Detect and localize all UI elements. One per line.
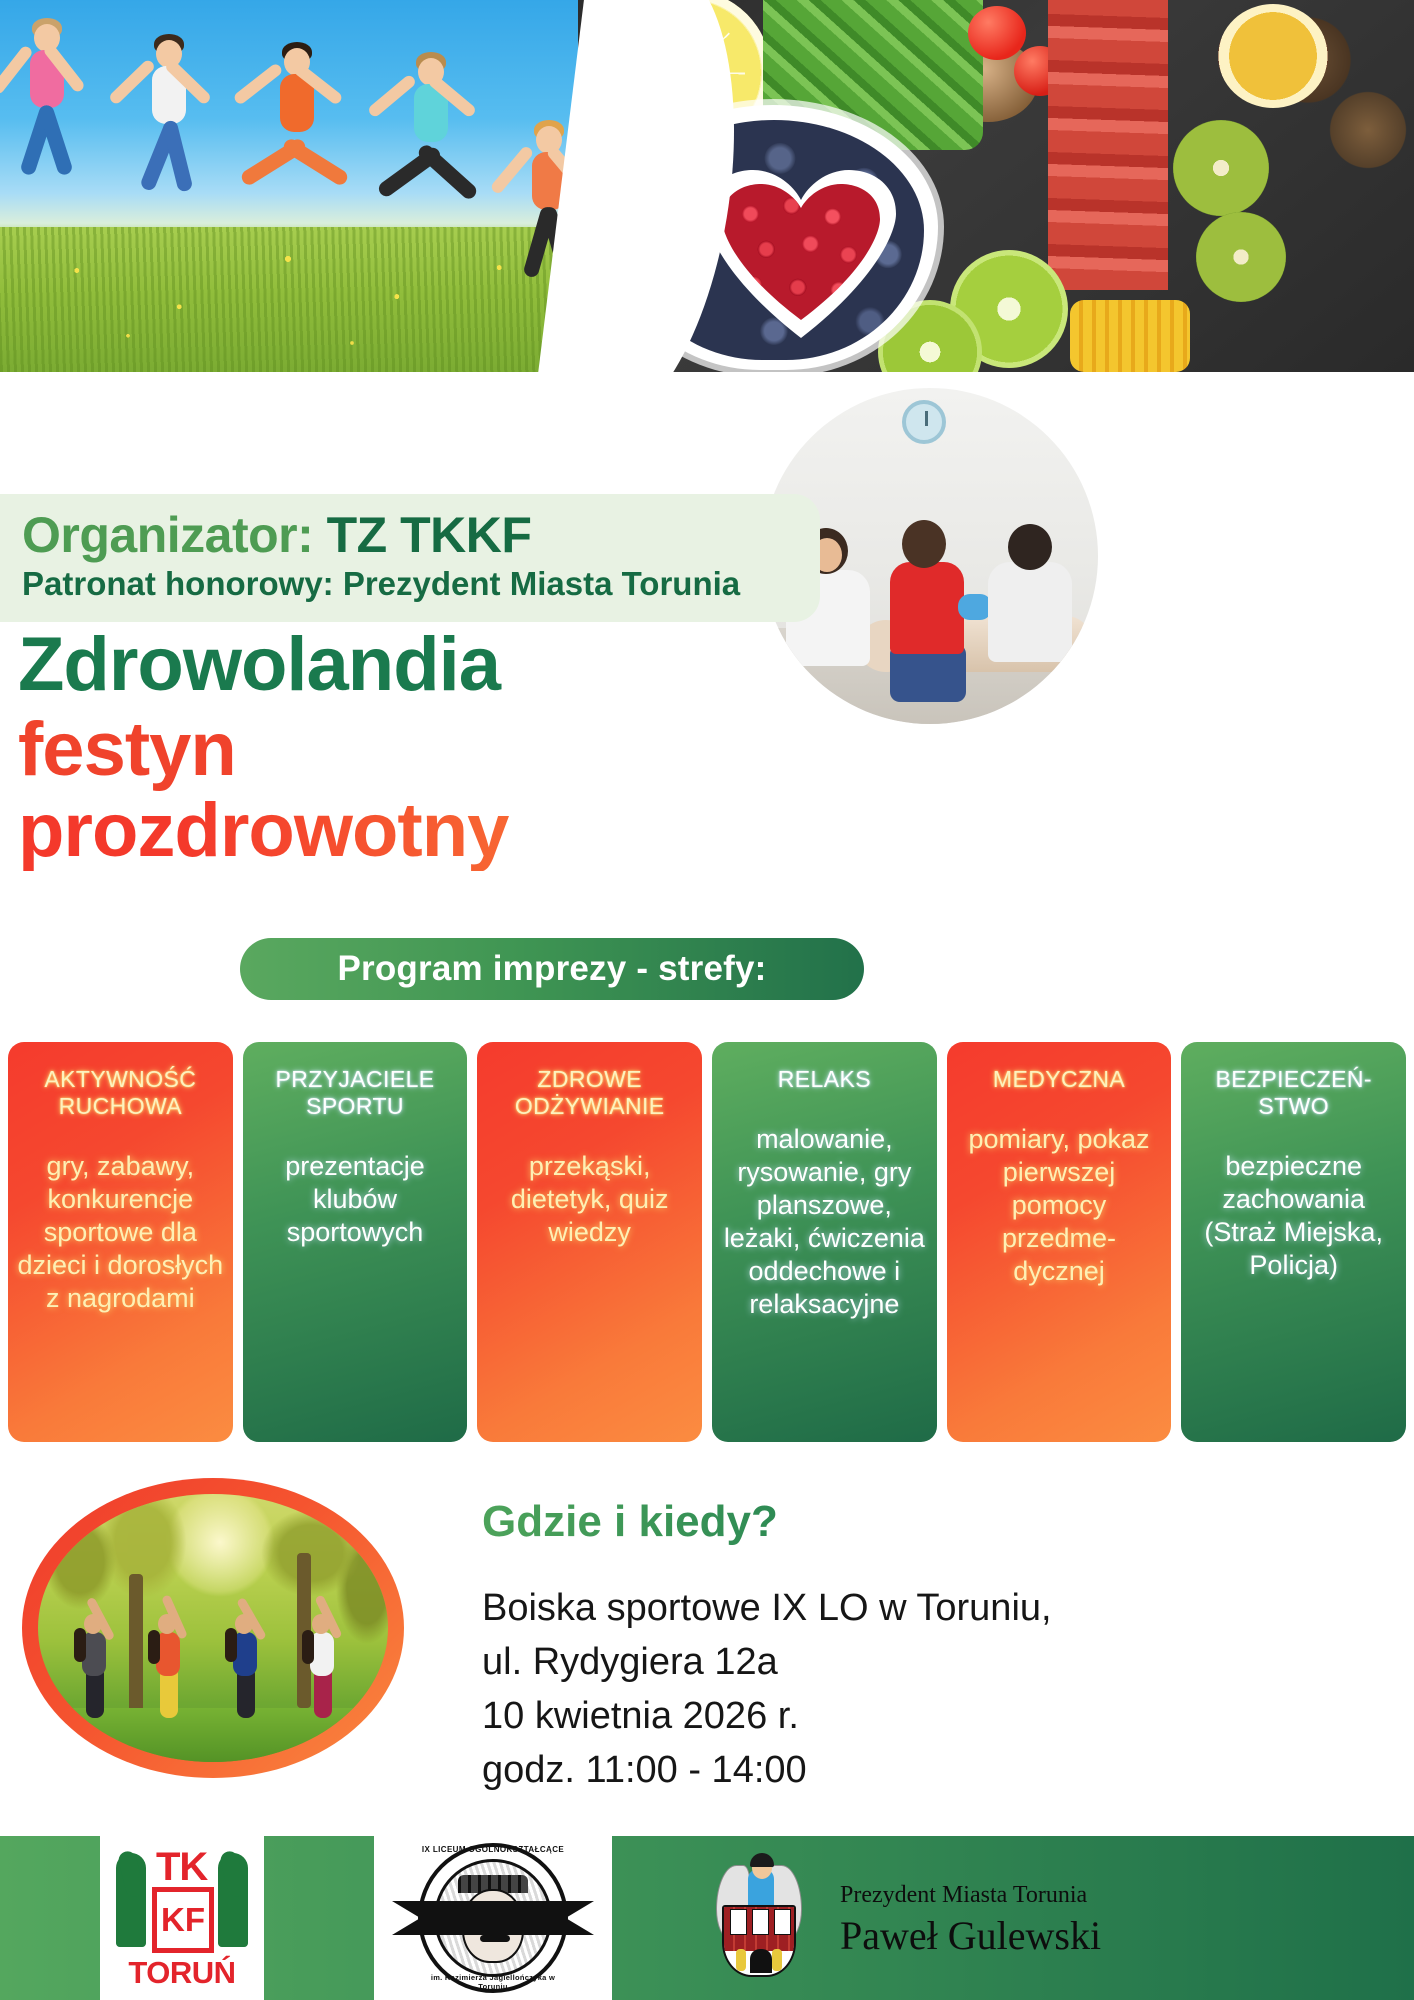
president-text: Prezydent Miasta Torunia Paweł Gulewski xyxy=(840,1881,1101,1960)
zone-body: pomiary, pokaz pierwszej pomocy przedme-… xyxy=(955,1123,1164,1288)
zone-card-medyczna[interactable]: MEDYCZNA pomiary, pokaz pierwszej pomocy… xyxy=(947,1042,1172,1442)
zone-title: AKTYWNOŚĆRUCHOWA xyxy=(44,1066,196,1120)
zone-title: PRZYJACIELESPORTU xyxy=(275,1066,434,1120)
school-emblem: IX LICEUM OGÓLNOKSZTAŁCĄCE im. Kazimierz… xyxy=(418,1843,568,1993)
tkkf-emblem: TK KF TORUŃ xyxy=(112,1843,252,1993)
where-and-when-section: Gdzie i kiedy? Boiska sportowe IX LO w T… xyxy=(482,1498,1242,1798)
zone-card-przyjaciele-sportu[interactable]: PRZYJACIELESPORTU prezentacje klubów spo… xyxy=(243,1042,468,1442)
key-icon xyxy=(772,1949,782,1971)
organizer-prefix: Organizator: xyxy=(22,507,327,563)
organizer-panel: Organizator: TZ TKKF Patronat honorowy: … xyxy=(0,494,820,622)
tkkf-city-label: TORUŃ xyxy=(112,1955,252,1991)
page-title: Zdrowolandia festyn prozdrowotny xyxy=(18,626,778,871)
venue-line: Boiska sportowe IX LO w Toruniu, xyxy=(482,1582,1242,1636)
blue-glove xyxy=(958,594,992,620)
program-zones-list: AKTYWNOŚĆRUCHOWA gry, zabawy, konkurencj… xyxy=(8,1042,1406,1442)
tkkf-kf-label: KF xyxy=(157,1892,209,1948)
organizer-name: TZ TKKF xyxy=(327,507,532,563)
wheat-icon xyxy=(116,1853,146,1947)
wall-clock xyxy=(902,400,946,444)
street-line: ul. Rydygiera 12a xyxy=(482,1636,1242,1690)
program-banner-label: Program imprezy - strefy: xyxy=(337,949,766,989)
footer-bar: TK KF TORUŃ IX LICEUM OGÓLNOKSZTAŁCĄCE i… xyxy=(0,1836,1414,2000)
zone-body: gry, zabawy, konkurencje sportowe dla dz… xyxy=(16,1150,225,1315)
title-line-2: festyn xyxy=(18,710,778,790)
zone-title: RELAKS xyxy=(778,1066,871,1093)
tkkf-tk-label: TK xyxy=(156,1845,207,1890)
school-arc-top: IX LICEUM OGÓLNOKSZTAŁCĄCE xyxy=(418,1845,568,1854)
title-line-3: prozdrowotny xyxy=(18,791,778,871)
castle-tower xyxy=(752,1909,769,1935)
logo-president-torun: Prezydent Miasta Torunia Paweł Gulewski xyxy=(700,1860,1260,1980)
kiwi-slice xyxy=(1196,212,1286,302)
photo-yoga-group xyxy=(22,1478,404,1778)
tomato xyxy=(968,6,1026,60)
zone-body: prezentacje klubów sportowych xyxy=(251,1150,460,1249)
kiwi-slice xyxy=(1173,120,1269,216)
yoga-photo-inner xyxy=(38,1494,388,1762)
key-icon xyxy=(736,1949,746,1971)
program-banner: Program imprezy - strefy: xyxy=(240,938,864,1000)
president-role: Prezydent Miasta Torunia xyxy=(840,1881,1101,1910)
observer-hair xyxy=(1008,524,1052,570)
torun-coat-of-arms xyxy=(700,1861,818,1979)
zone-body: bezpieczne zachowania (Straż Miejska, Po… xyxy=(1189,1150,1398,1282)
shield-icon xyxy=(722,1905,796,1977)
moustache-icon xyxy=(480,1935,510,1942)
zone-card-bezpieczenstwo[interactable]: BEZPIECZEŃ-STWO bezpieczne zachowania (S… xyxy=(1181,1042,1406,1442)
date-line: 10 kwietnia 2026 r. xyxy=(482,1690,1242,1744)
poster-root: Organizator: TZ TKKF Patronat honorowy: … xyxy=(0,0,1414,2000)
zone-card-relaks[interactable]: RELAKS malowanie, rysowanie, gry planszo… xyxy=(712,1042,937,1442)
castle-tower xyxy=(774,1909,791,1935)
zone-title: BEZPIECZEŃ-STWO xyxy=(1215,1066,1371,1120)
zone-body: przekąski, dietetyk, quiz wiedzy xyxy=(485,1150,694,1249)
wheat-icon xyxy=(218,1853,248,1947)
logo-tkkf-torun: TK KF TORUŃ xyxy=(100,1836,264,2000)
title-line-1: Zdrowolandia xyxy=(18,626,778,704)
instructor-figure xyxy=(890,562,964,654)
observer-figure xyxy=(988,562,1072,662)
where-details: Boiska sportowe IX LO w Toruniu, ul. Ryd… xyxy=(482,1582,1242,1798)
zone-title: ZDROWEODŻYWIANIE xyxy=(515,1066,665,1120)
angel-hair xyxy=(750,1853,774,1867)
zone-body: malowanie, rysowanie, gry planszowe, leż… xyxy=(720,1123,929,1321)
passionfruit xyxy=(1218,4,1328,108)
tree-trunk xyxy=(129,1574,143,1713)
zone-title: MEDYCZNA xyxy=(993,1066,1125,1093)
time-line: godz. 11:00 - 14:00 xyxy=(482,1744,1242,1798)
hero-image-band xyxy=(0,0,1414,372)
where-heading: Gdzie i kiedy? xyxy=(482,1498,1242,1546)
castle-gate xyxy=(750,1949,772,1973)
rhubarb-stalks xyxy=(1048,0,1168,290)
zone-card-aktywnosc-ruchowa[interactable]: AKTYWNOŚĆRUCHOWA gry, zabawy, konkurencj… xyxy=(8,1042,233,1442)
school-arc-bottom: im. Kazimierza Jagiellończyka w Toruniu xyxy=(418,1973,568,1991)
logo-ix-liceum: IX LICEUM OGÓLNOKSZTAŁCĄCE im. Kazimierz… xyxy=(374,1836,612,2000)
president-name: Paweł Gulewski xyxy=(840,1913,1101,1959)
castle-tower xyxy=(730,1909,747,1935)
ribbon-icon xyxy=(392,1901,594,1935)
zone-card-zdrowe-odzywianie[interactable]: ZDROWEODŻYWIANIE przekąski, dietetyk, qu… xyxy=(477,1042,702,1442)
instructor-hair xyxy=(902,520,946,568)
tkkf-kf-box: KF xyxy=(152,1887,214,1953)
corn-cob xyxy=(1070,300,1190,372)
organizer-line: Organizator: TZ TKKF xyxy=(22,508,792,563)
patronage-line: Patronat honorowy: Prezydent Miasta Toru… xyxy=(22,565,792,603)
